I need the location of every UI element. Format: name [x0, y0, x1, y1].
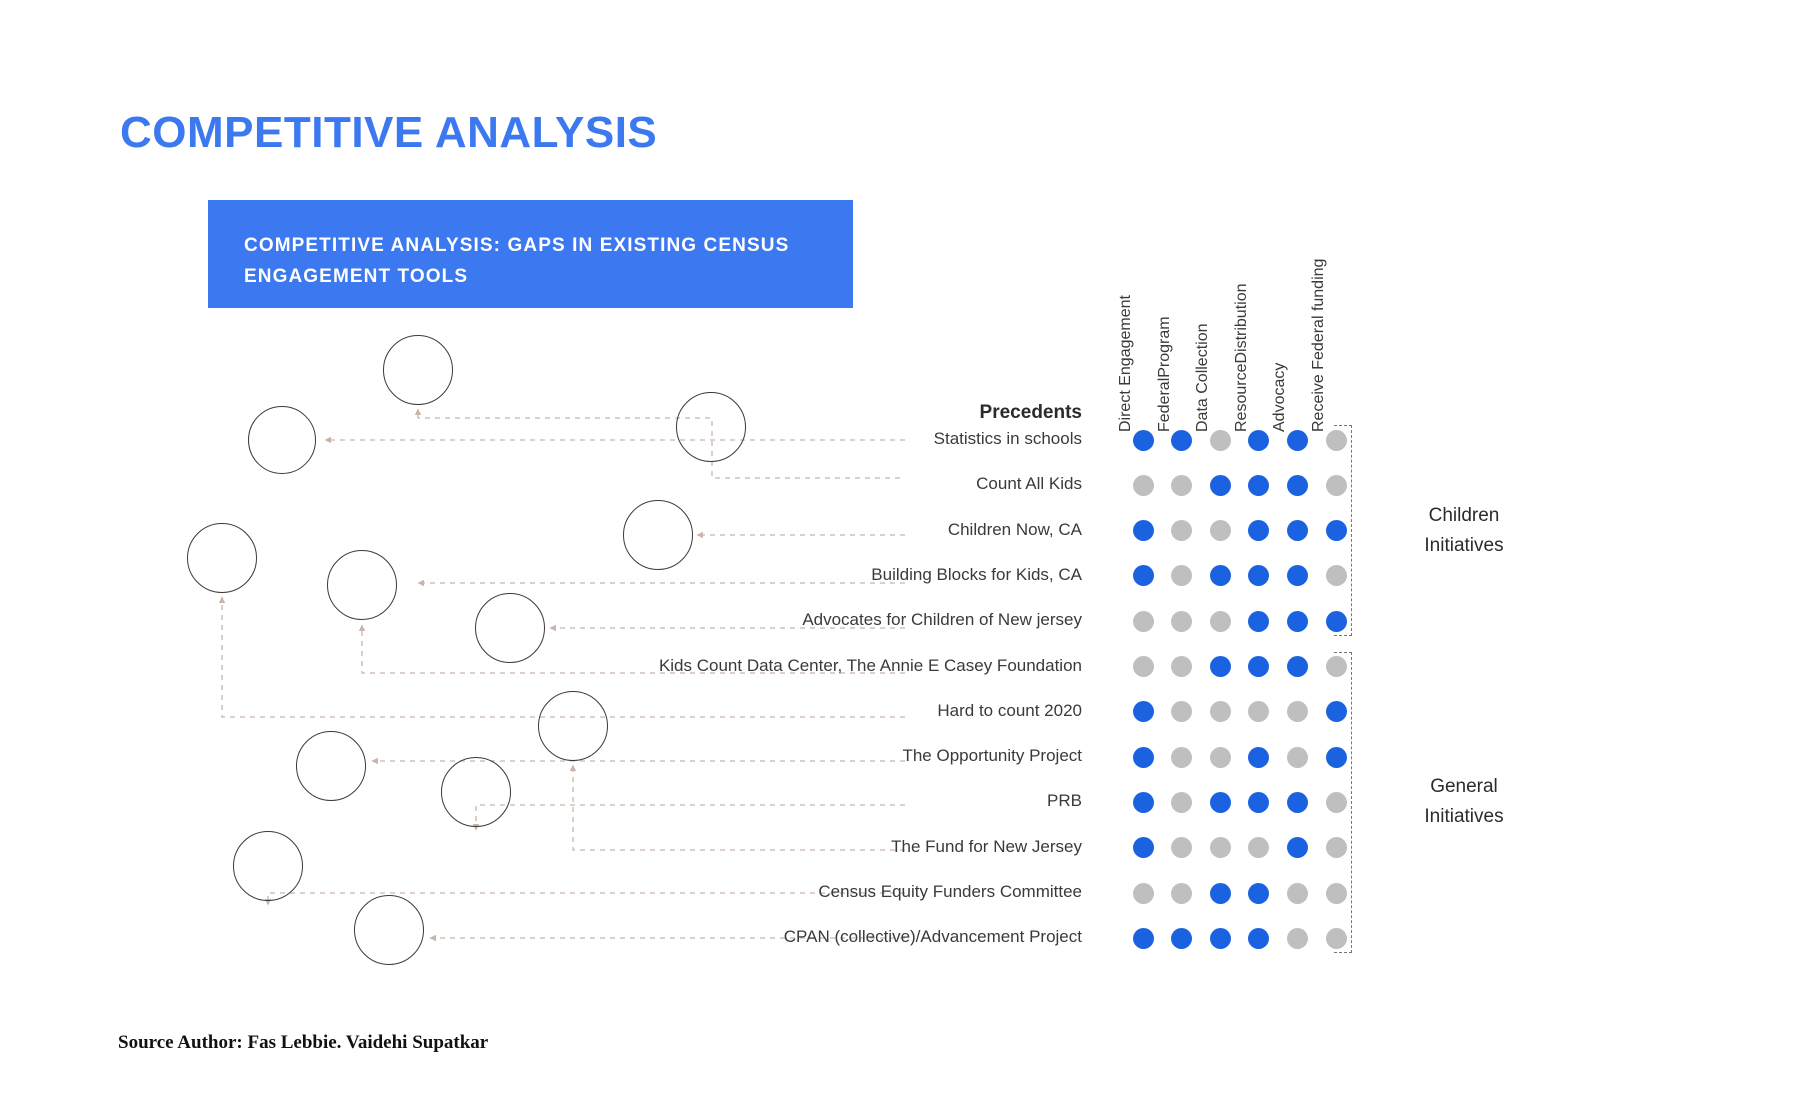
capability-dot-inactive [1171, 747, 1192, 768]
capability-dot-inactive [1287, 928, 1308, 949]
capability-dot-inactive [1171, 656, 1192, 677]
capability-dot-active [1210, 792, 1231, 813]
diagram-circle [187, 523, 257, 593]
capability-dot-inactive [1133, 475, 1154, 496]
slide-canvas: COMPETITIVE ANALYSIS COMPETITIVE ANALYSI… [0, 0, 1800, 1098]
capability-dot-active [1133, 747, 1154, 768]
capability-dot-active [1287, 430, 1308, 451]
capability-dot-active [1210, 928, 1231, 949]
diagram-circle [296, 731, 366, 801]
precedents-heading: Precedents [980, 402, 1082, 424]
capability-dot-active [1133, 565, 1154, 586]
group-label: General Initiatives [1384, 772, 1544, 832]
diagram-circle [354, 895, 424, 965]
criteria-column-header: Receive Federal funding [1310, 259, 1328, 432]
capability-dot-inactive [1210, 430, 1231, 451]
capability-dot-inactive [1210, 520, 1231, 541]
capability-dot-inactive [1248, 701, 1269, 722]
criteria-column-header: ResourceDistribution [1233, 283, 1251, 432]
capability-dot-active [1248, 883, 1269, 904]
precedent-row-label: PRB [1047, 791, 1082, 811]
capability-dot-active [1248, 430, 1269, 451]
capability-dot-inactive [1171, 837, 1192, 858]
diagram-circle [441, 757, 511, 827]
precedent-row-label: The Opportunity Project [902, 746, 1082, 766]
diagram-circle [383, 335, 453, 405]
diagram-circle [676, 392, 746, 462]
capability-dot-active [1171, 928, 1192, 949]
capability-dot-inactive [1210, 837, 1231, 858]
capability-dot-active [1248, 611, 1269, 632]
capability-dot-active [1133, 837, 1154, 858]
capability-dot-active [1248, 520, 1269, 541]
precedent-row-label: Statistics in schools [934, 429, 1082, 449]
precedent-row-label: Kids Count Data Center, The Annie E Case… [659, 656, 1082, 676]
diagram-circle [623, 500, 693, 570]
capability-dot-inactive [1248, 837, 1269, 858]
capability-dot-active [1248, 565, 1269, 586]
capability-dot-active [1248, 475, 1269, 496]
capability-dot-active [1287, 656, 1308, 677]
section-banner: COMPETITIVE ANALYSIS: GAPS IN EXISTING C… [208, 200, 853, 308]
capability-dot-inactive [1171, 475, 1192, 496]
capability-dot-active [1287, 565, 1308, 586]
precedent-row-label: Children Now, CA [948, 520, 1082, 540]
capability-dot-active [1287, 837, 1308, 858]
precedent-row-label: The Fund for New Jersey [891, 837, 1082, 857]
capability-dot-active [1248, 656, 1269, 677]
capability-dot-inactive [1287, 883, 1308, 904]
criteria-column-header: FederalProgram [1156, 316, 1174, 432]
capability-dot-active [1133, 701, 1154, 722]
page-title: COMPETITIVE ANALYSIS [120, 108, 657, 158]
capability-dot-active [1287, 611, 1308, 632]
diagram-circle [538, 691, 608, 761]
capability-dot-active [1210, 565, 1231, 586]
precedent-row-label: Hard to count 2020 [937, 701, 1082, 721]
capability-dot-inactive [1171, 883, 1192, 904]
diagram-circle [327, 550, 397, 620]
capability-dot-inactive [1171, 611, 1192, 632]
criteria-column-header: Data Collection [1194, 324, 1212, 433]
capability-dot-inactive [1171, 565, 1192, 586]
capability-dot-inactive [1171, 792, 1192, 813]
criteria-column-header: Advocacy [1271, 363, 1289, 432]
capability-dot-active [1133, 430, 1154, 451]
precedent-row-label: Building Blocks for Kids, CA [871, 565, 1082, 585]
capability-dot-inactive [1210, 701, 1231, 722]
capability-dot-active [1210, 656, 1231, 677]
group-bracket [1334, 652, 1352, 954]
precedent-row-label: Advocates for Children of New jersey [802, 610, 1082, 630]
capability-dot-inactive [1171, 520, 1192, 541]
precedent-row-label: Census Equity Funders Committee [818, 882, 1082, 902]
capability-dot-active [1133, 520, 1154, 541]
capability-dot-active [1287, 520, 1308, 541]
group-bracket [1334, 425, 1352, 636]
precedent-row-label: Count All Kids [976, 474, 1082, 494]
capability-dot-inactive [1287, 747, 1308, 768]
group-label: Children Initiatives [1384, 501, 1544, 561]
capability-dot-inactive [1210, 611, 1231, 632]
diagram-circle [233, 831, 303, 901]
capability-dot-inactive [1133, 656, 1154, 677]
capability-dot-active [1248, 792, 1269, 813]
capability-dot-active [1287, 792, 1308, 813]
capability-dot-active [1248, 747, 1269, 768]
capability-dot-active [1210, 475, 1231, 496]
criteria-column-header: Direct Engagement [1117, 295, 1135, 432]
capability-dot-inactive [1133, 883, 1154, 904]
capability-dot-inactive [1287, 701, 1308, 722]
capability-dot-active [1287, 475, 1308, 496]
diagram-circle [248, 406, 316, 474]
diagram-circle [475, 593, 545, 663]
capability-dot-active [1133, 792, 1154, 813]
capability-dot-active [1171, 430, 1192, 451]
precedent-row-label: CPAN (collective)/Advancement Project [784, 927, 1082, 947]
capability-dot-inactive [1171, 701, 1192, 722]
capability-dot-active [1248, 928, 1269, 949]
capability-dot-active [1210, 883, 1231, 904]
source-attribution: Source Author: Fas Lebbie. Vaidehi Supat… [118, 1032, 488, 1054]
capability-dot-active [1133, 928, 1154, 949]
capability-dot-inactive [1133, 611, 1154, 632]
capability-dot-inactive [1210, 747, 1231, 768]
section-banner-label: COMPETITIVE ANALYSIS: GAPS IN EXISTING C… [244, 230, 824, 292]
